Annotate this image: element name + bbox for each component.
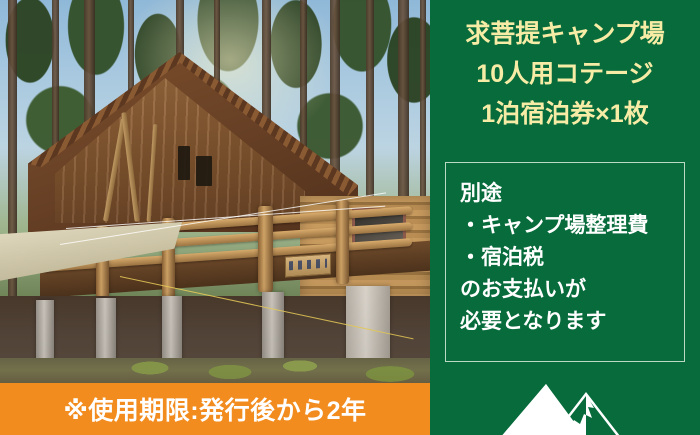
note-line-1: 別途 — [460, 178, 692, 210]
photo-vignette — [0, 0, 430, 435]
expiry-banner: ※使用期限:発行後から2年 — [0, 383, 430, 435]
note-line-4: のお支払いが — [460, 274, 692, 306]
info-panel: 求菩提キャンプ場 10人用コテージ 1泊宿泊券×1枚 別途 ・キャンプ場整理費 … — [430, 0, 700, 435]
product-card: ※使用期限:発行後から2年 求菩提キャンプ場 10人用コテージ 1泊宿泊券×1枚… — [0, 0, 700, 435]
note-line-3: ・宿泊税 — [460, 242, 692, 274]
note-line-2: ・キャンプ場整理費 — [460, 210, 692, 242]
title-line-1: 求菩提キャンプ場 — [430, 14, 700, 54]
cottage-photo — [0, 0, 430, 435]
note-line-5: 必要となります — [460, 306, 692, 338]
expiry-banner-text: ※使用期限:発行後から2年 — [63, 391, 366, 427]
notes-list: 別途 ・キャンプ場整理費 ・宿泊税 のお支払いが 必要となります — [460, 178, 692, 338]
mountain-peaks-icon — [490, 382, 640, 435]
title-line-2: 10人用コテージ — [430, 54, 700, 94]
panel-title: 求菩提キャンプ場 10人用コテージ 1泊宿泊券×1枚 — [430, 14, 700, 134]
title-line-3: 1泊宿泊券×1枚 — [430, 94, 700, 134]
